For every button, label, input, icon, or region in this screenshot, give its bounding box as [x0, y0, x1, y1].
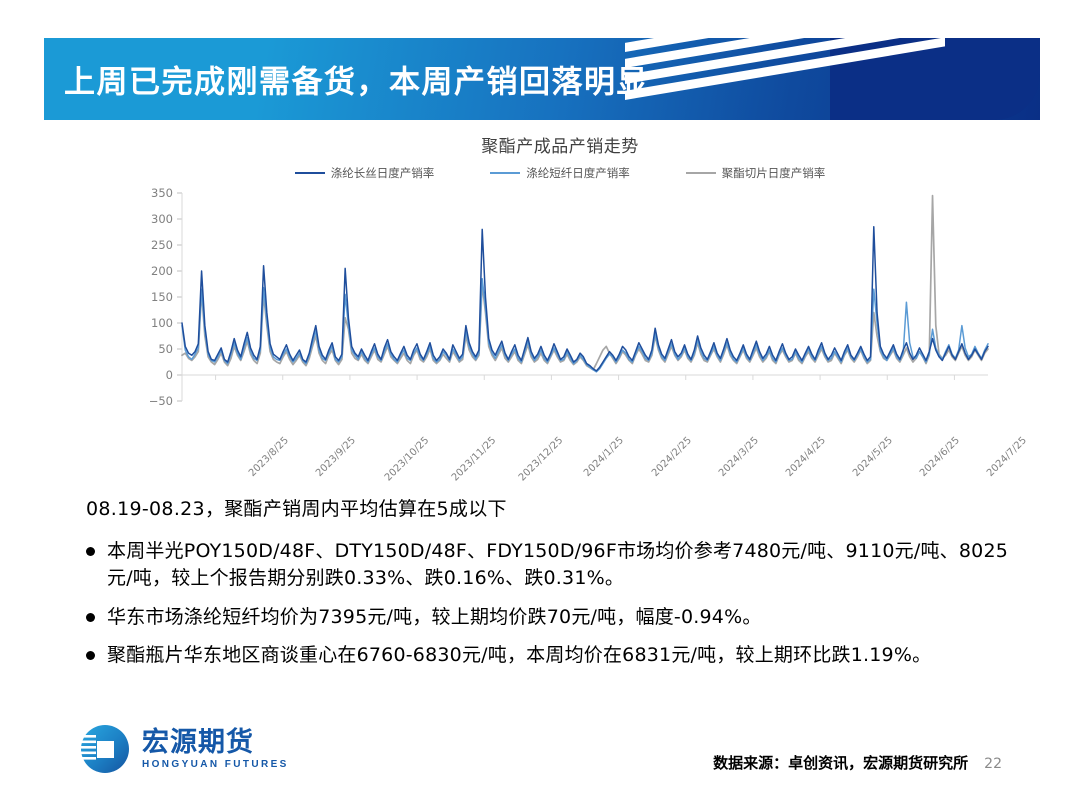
- legend-swatch-chip: [686, 172, 716, 175]
- legend-swatch-staple: [490, 172, 520, 175]
- x-axis-tick-label: 2023/10/25: [383, 435, 432, 484]
- x-axis-tick-label: 2024/2/25: [650, 435, 694, 479]
- legend-swatch-filament: [295, 172, 325, 175]
- chart-legend: 涤纶长丝日度产销率 涤纶短纤日度产销率 聚酯切片日度产销率: [120, 165, 1000, 181]
- bullet-item: 聚酯瓶片华东地区商谈重心在6760-6830元/吨，本周均价在6831元/吨，较…: [86, 642, 1016, 670]
- logo-name-cn: 宏源期货: [142, 729, 289, 756]
- slide-body: 08.19-08.23，聚酯产销周内平均估算在5成以下 本周半光POY150D/…: [86, 496, 1016, 681]
- page-number: 22: [984, 756, 1002, 772]
- chart-title: 聚酯产成品产销走势: [120, 132, 1000, 157]
- legend-label-filament: 涤纶长丝日度产销率: [331, 165, 435, 181]
- company-logo: 宏源期货 HONGYUAN FUTURES: [78, 722, 289, 776]
- legend-item-staple[interactable]: 涤纶短纤日度产销率: [490, 165, 630, 181]
- x-axis-tick-label: 2023/12/25: [517, 435, 566, 484]
- title-banner: 上周已完成刚需备货，本周产销回落明显: [44, 38, 1040, 120]
- logo-wordmark: 宏源期货 HONGYUAN FUTURES: [142, 729, 289, 770]
- polyester-production-sales-chart: 聚酯产成品产销走势 涤纶长丝日度产销率 涤纶短纤日度产销率 聚酯切片日度产销率 …: [120, 132, 1000, 487]
- chart-svg: 350300250200150100500−50: [120, 185, 1000, 435]
- svg-text:250: 250: [151, 238, 173, 252]
- svg-text:350: 350: [151, 186, 173, 200]
- x-axis-tick-label: 2023/8/25: [247, 435, 291, 479]
- svg-text:200: 200: [151, 264, 173, 278]
- legend-label-staple: 涤纶短纤日度产销率: [526, 165, 630, 181]
- bullet-item: 本周半光POY150D/48F、DTY150D/48F、FDY150D/96F市…: [86, 538, 1016, 593]
- footer-source-row: 数据来源：卓创资讯，宏源期货研究所 22: [713, 752, 1002, 773]
- data-source-text: 数据来源：卓创资讯，宏源期货研究所: [713, 752, 968, 773]
- svg-text:50: 50: [158, 342, 173, 356]
- x-axis-tick-label: 2024/5/25: [851, 435, 895, 479]
- svg-text:150: 150: [151, 290, 173, 304]
- svg-text:300: 300: [151, 212, 173, 226]
- lead-line: 08.19-08.23，聚酯产销周内平均估算在5成以下: [86, 496, 1016, 524]
- banner-stripe-decoration: [625, 38, 945, 120]
- x-axis-tick-label: 2024/3/25: [717, 435, 761, 479]
- bullet-dot-icon: [86, 613, 95, 622]
- x-axis-tick-label: 2024/7/25: [985, 435, 1029, 479]
- chart-plot-area: 350300250200150100500−50: [120, 185, 1000, 435]
- page-title: 上周已完成刚需备货，本周产销回落明显: [64, 57, 649, 102]
- logo-name-en: HONGYUAN FUTURES: [142, 760, 289, 770]
- x-axis-tick-label: 2023/9/25: [314, 435, 358, 479]
- bullet-item: 华东市场涤纶短纤均价为7395元/吨，较上期均价跌70元/吨，幅度-0.94%。: [86, 604, 1016, 632]
- bullet-text: 本周半光POY150D/48F、DTY150D/48F、FDY150D/96F市…: [107, 538, 1016, 593]
- bullet-dot-icon: [86, 651, 95, 660]
- hongyuan-logo-icon: [78, 722, 132, 776]
- x-axis-tick-label: 2024/4/25: [784, 435, 828, 479]
- bullet-dot-icon: [86, 547, 95, 556]
- legend-item-filament[interactable]: 涤纶长丝日度产销率: [295, 165, 435, 181]
- svg-text:100: 100: [151, 316, 173, 330]
- x-axis-tick-label: 2023/11/25: [450, 435, 499, 484]
- legend-label-chip: 聚酯切片日度产销率: [722, 165, 826, 181]
- svg-text:0: 0: [166, 368, 173, 382]
- svg-text:−50: −50: [149, 394, 173, 408]
- bullet-text: 聚酯瓶片华东地区商谈重心在6760-6830元/吨，本周均价在6831元/吨，较…: [107, 642, 931, 670]
- chart-x-axis-labels: 2023/8/252023/9/252023/10/252023/11/2520…: [120, 435, 1000, 495]
- x-axis-tick-label: 2024/6/25: [918, 435, 962, 479]
- legend-item-chip[interactable]: 聚酯切片日度产销率: [686, 165, 826, 181]
- bullet-text: 华东市场涤纶短纤均价为7395元/吨，较上期均价跌70元/吨，幅度-0.94%。: [107, 604, 762, 632]
- x-axis-tick-label: 2024/1/25: [582, 435, 626, 479]
